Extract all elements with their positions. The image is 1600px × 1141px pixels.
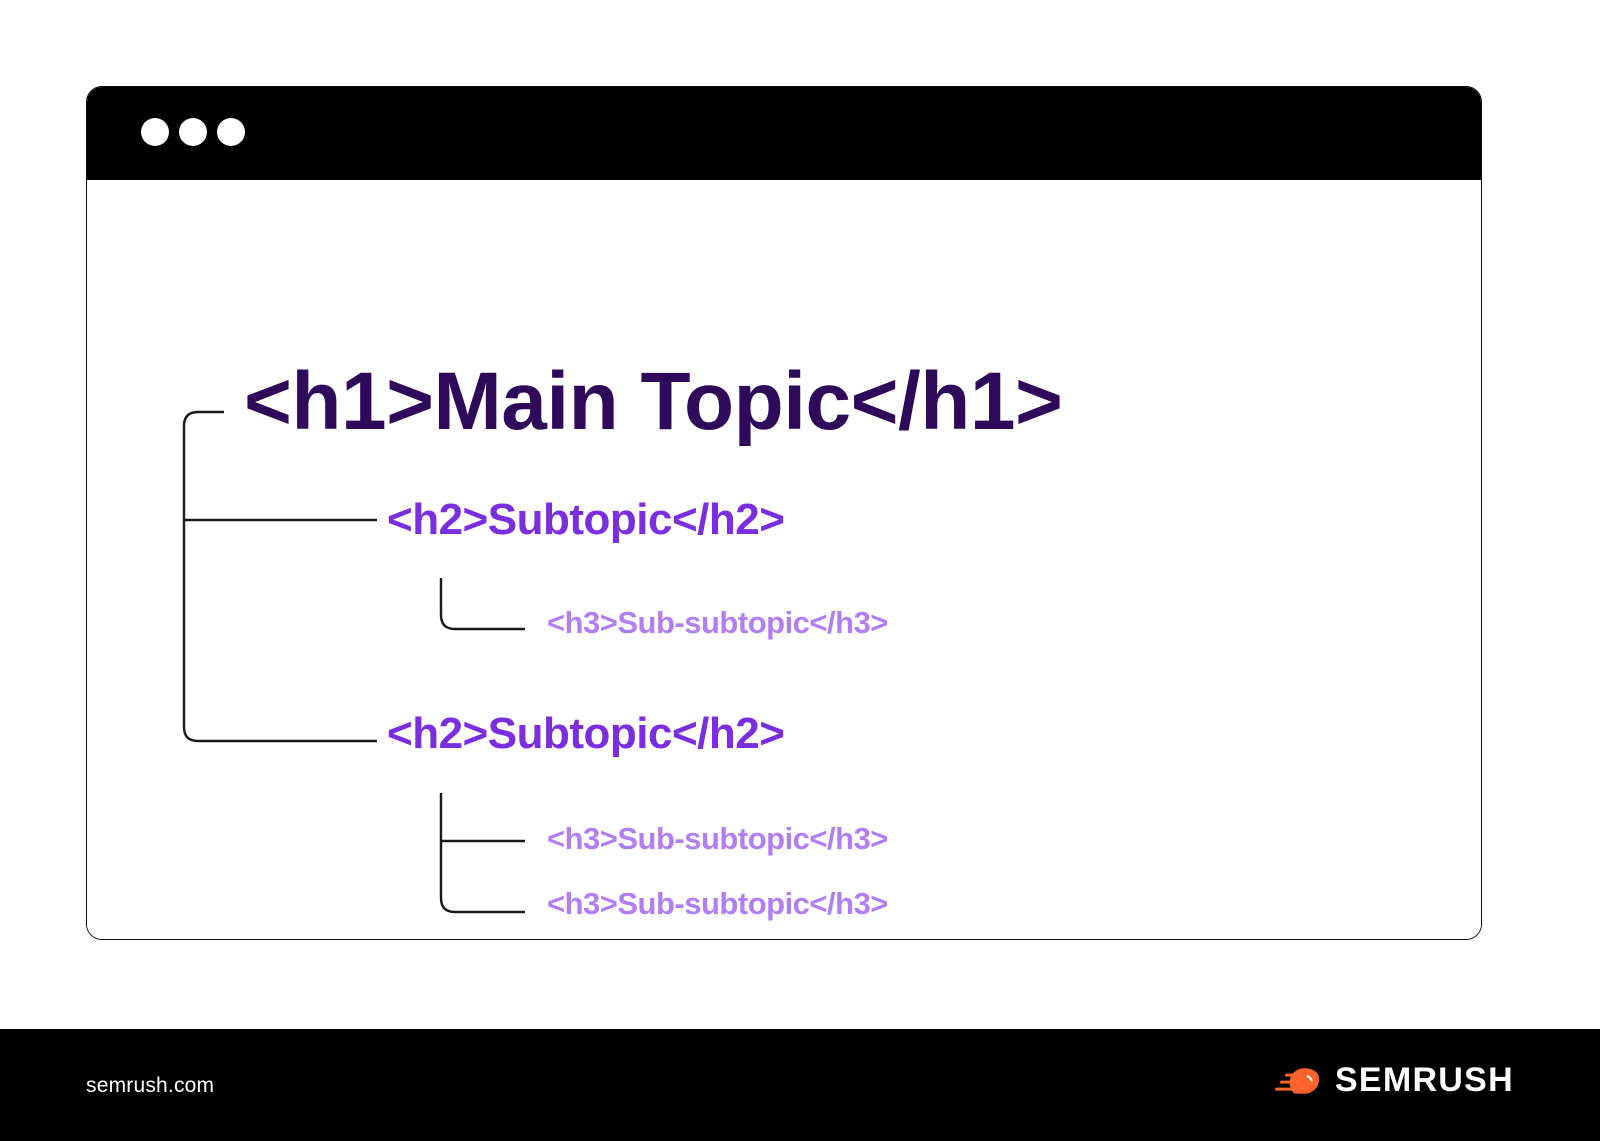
semrush-comet-icon <box>1274 1063 1322 1099</box>
browser-window-mock: <h1>Main Topic</h1> <h2>Subtopic</h2> <h… <box>86 86 1482 940</box>
footer-bar: semrush.com SEMRUSH <box>0 1029 1600 1141</box>
node-h3-sub-subtopic-b2: <h3>Sub-subtopic</h3> <box>547 885 888 923</box>
browser-titlebar <box>87 87 1481 180</box>
window-dot-3-icon[interactable] <box>217 118 245 146</box>
window-controls <box>141 118 245 146</box>
node-h2-subtopic-second: <h2>Subtopic</h2> <box>387 708 784 760</box>
trunk-h1-to-h2b <box>184 412 377 741</box>
semrush-logo: SEMRUSH <box>1274 1061 1514 1100</box>
node-h1-main-topic: <h1>Main Topic</h1> <box>244 354 1062 450</box>
branch-h2a-to-h3a1 <box>441 578 525 629</box>
node-h3-sub-subtopic-a1: <h3>Sub-subtopic</h3> <box>547 604 888 642</box>
browser-content-area: <h1>Main Topic</h1> <h2>Subtopic</h2> <h… <box>87 180 1481 940</box>
window-dot-1-icon[interactable] <box>141 118 169 146</box>
node-h2-subtopic-first: <h2>Subtopic</h2> <box>387 494 784 546</box>
footer-url-label: semrush.com <box>86 1074 214 1098</box>
node-h3-sub-subtopic-b1: <h3>Sub-subtopic</h3> <box>547 820 888 858</box>
semrush-wordmark: SEMRUSH <box>1335 1061 1514 1100</box>
page-root: <h1>Main Topic</h1> <h2>Subtopic</h2> <h… <box>0 0 1600 1141</box>
window-dot-2-icon[interactable] <box>179 118 207 146</box>
trunk-h2b-children <box>441 793 525 912</box>
